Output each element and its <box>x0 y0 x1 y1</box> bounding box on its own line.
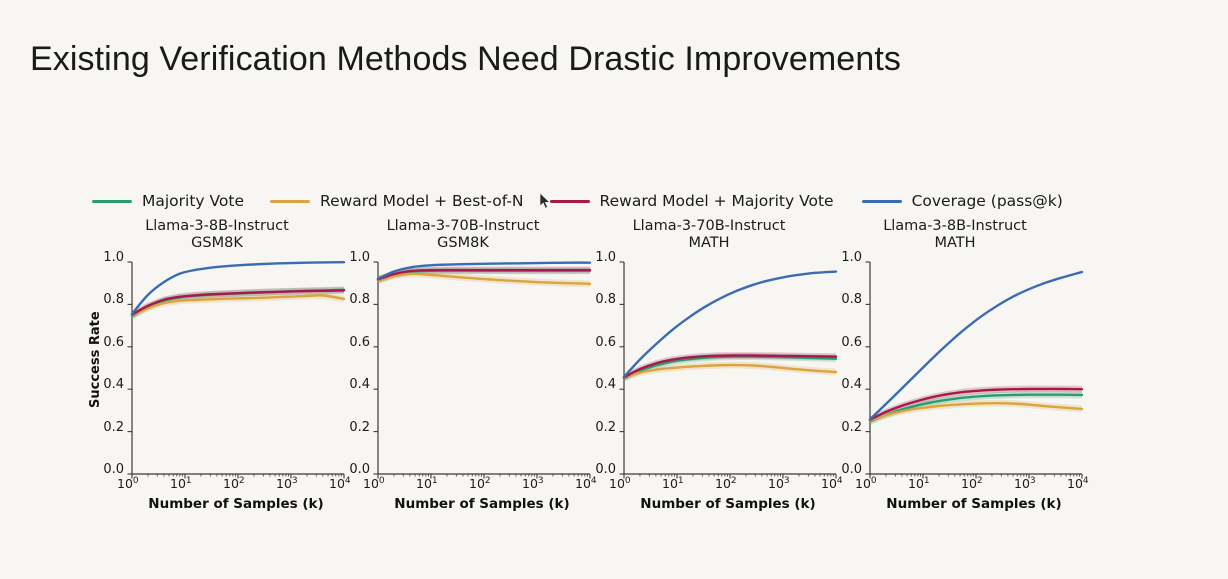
y-axis-tick-label: 0.0 <box>340 462 370 477</box>
panel-title: Llama-3-70B-InstructMATH <box>584 218 834 252</box>
y-axis-tick-label: 0.8 <box>832 292 862 307</box>
panel-title-line: Llama-3-8B-Instruct <box>830 218 1080 235</box>
chart-panel-2: Llama-3-70B-InstructGSM8K0.00.20.40.60.8… <box>338 218 588 528</box>
x-axis-tick-label: 100 <box>855 476 877 491</box>
x-axis-tick-label: 101 <box>908 476 930 491</box>
legend-label: Majority Vote <box>142 192 244 210</box>
legend-line-swatch <box>550 200 590 203</box>
x-axis-tick-label: 104 <box>1067 476 1089 491</box>
y-axis-tick-label: 0.4 <box>832 377 862 392</box>
chart-legend: Majority VoteReward Model + Best-of-NRew… <box>92 190 1138 212</box>
y-axis-tick-label: 0.8 <box>340 292 370 307</box>
plot-area: 0.00.20.40.60.81.0100101102103104Number … <box>868 258 1080 512</box>
y-axis-tick-label: 1.0 <box>586 250 616 265</box>
legend-label: Reward Model + Majority Vote <box>600 192 834 210</box>
chart-panel-3: Llama-3-70B-InstructMATH0.00.20.40.60.81… <box>584 218 834 528</box>
panel-title-line: MATH <box>584 235 834 252</box>
legend-line-swatch <box>92 200 132 203</box>
x-axis-label: Number of Samples (k) <box>376 496 588 514</box>
y-axis-tick-label: 0.4 <box>586 377 616 392</box>
panel-title-line: GSM8K <box>92 235 342 252</box>
y-axis-tick-label: 0.2 <box>832 420 862 435</box>
y-axis-tick-label: 1.0 <box>340 250 370 265</box>
y-axis-tick-label: 0.6 <box>340 335 370 350</box>
y-axis-tick-label: 0.2 <box>94 420 124 435</box>
y-axis-tick-label: 0.8 <box>586 292 616 307</box>
chart-panel-4: Llama-3-8B-InstructMATH0.00.20.40.60.81.… <box>830 218 1080 528</box>
legend-item-1[interactable]: Majority Vote <box>92 192 244 210</box>
slide-canvas: Existing Verification Methods Need Drast… <box>0 0 1228 579</box>
y-axis-label: Success Rate <box>88 311 103 408</box>
y-axis-tick-label: 0.0 <box>586 462 616 477</box>
legend-label: Reward Model + Best-of-N <box>320 192 524 210</box>
legend-line-swatch <box>270 200 310 203</box>
panel-title-line: Llama-3-8B-Instruct <box>92 218 342 235</box>
panel-title: Llama-3-70B-InstructGSM8K <box>338 218 588 252</box>
panel-title-line: Llama-3-70B-Instruct <box>584 218 834 235</box>
x-axis-tick-label: 100 <box>117 476 139 491</box>
figure-panels: Llama-3-8B-InstructGSM8K0.00.20.40.60.81… <box>92 218 1140 528</box>
x-axis-tick-label: 103 <box>1014 476 1036 491</box>
y-axis-tick-label: 0.2 <box>586 420 616 435</box>
legend-item-2[interactable]: Reward Model + Best-of-N <box>270 192 524 210</box>
x-axis-tick-label: 101 <box>662 476 684 491</box>
page-title: Existing Verification Methods Need Drast… <box>30 40 901 79</box>
plot-svg <box>622 258 842 478</box>
x-axis-tick-label: 102 <box>223 476 245 491</box>
axis-ticks <box>374 262 591 479</box>
axis-ticks <box>866 262 1083 479</box>
plot-svg <box>130 258 350 478</box>
legend-item-4[interactable]: Coverage (pass@k) <box>862 192 1063 210</box>
y-axis-tick-label: 1.0 <box>94 250 124 265</box>
legend-label: Coverage (pass@k) <box>912 192 1063 210</box>
x-axis-tick-label: 103 <box>768 476 790 491</box>
y-axis-tick-label: 0.0 <box>832 462 862 477</box>
panel-title-line: GSM8K <box>338 235 588 252</box>
y-axis-tick-label: 0.4 <box>340 377 370 392</box>
x-axis-tick-label: 103 <box>522 476 544 491</box>
x-axis-tick-label: 103 <box>276 476 298 491</box>
y-axis-tick-label: 0.8 <box>94 292 124 307</box>
y-axis-tick-label: 0.2 <box>340 420 370 435</box>
x-axis-tick-label: 100 <box>609 476 631 491</box>
x-axis-label: Number of Samples (k) <box>622 496 834 514</box>
mouse-pointer-icon <box>540 193 552 210</box>
chart-panel-1: Llama-3-8B-InstructGSM8K0.00.20.40.60.81… <box>92 218 342 528</box>
x-axis-tick-label: 101 <box>170 476 192 491</box>
x-axis-tick-label: 100 <box>363 476 385 491</box>
panel-title-line: MATH <box>830 235 1080 252</box>
y-axis-tick-label: 0.6 <box>586 335 616 350</box>
plot-area: 0.00.20.40.60.81.0100101102103104Number … <box>376 258 588 512</box>
plot-area: 0.00.20.40.60.81.0100101102103104Number … <box>130 258 342 512</box>
legend-item-3[interactable]: Reward Model + Majority Vote <box>550 192 834 210</box>
plot-area: 0.00.20.40.60.81.0100101102103104Number … <box>622 258 834 512</box>
panel-title: Llama-3-8B-InstructGSM8K <box>92 218 342 252</box>
panel-title-line: Llama-3-70B-Instruct <box>338 218 588 235</box>
x-axis-tick-label: 102 <box>961 476 983 491</box>
x-axis-tick-label: 102 <box>715 476 737 491</box>
y-axis-tick-label: 0.6 <box>832 335 862 350</box>
legend-line-swatch <box>862 200 902 203</box>
x-axis-tick-label: 102 <box>469 476 491 491</box>
panel-title: Llama-3-8B-InstructMATH <box>830 218 1080 252</box>
x-axis-label: Number of Samples (k) <box>130 496 342 514</box>
x-axis-tick-label: 101 <box>416 476 438 491</box>
y-axis-tick-label: 0.0 <box>94 462 124 477</box>
plot-svg <box>376 258 596 478</box>
plot-svg <box>868 258 1088 478</box>
y-axis-tick-label: 1.0 <box>832 250 862 265</box>
x-axis-label: Number of Samples (k) <box>868 496 1080 514</box>
